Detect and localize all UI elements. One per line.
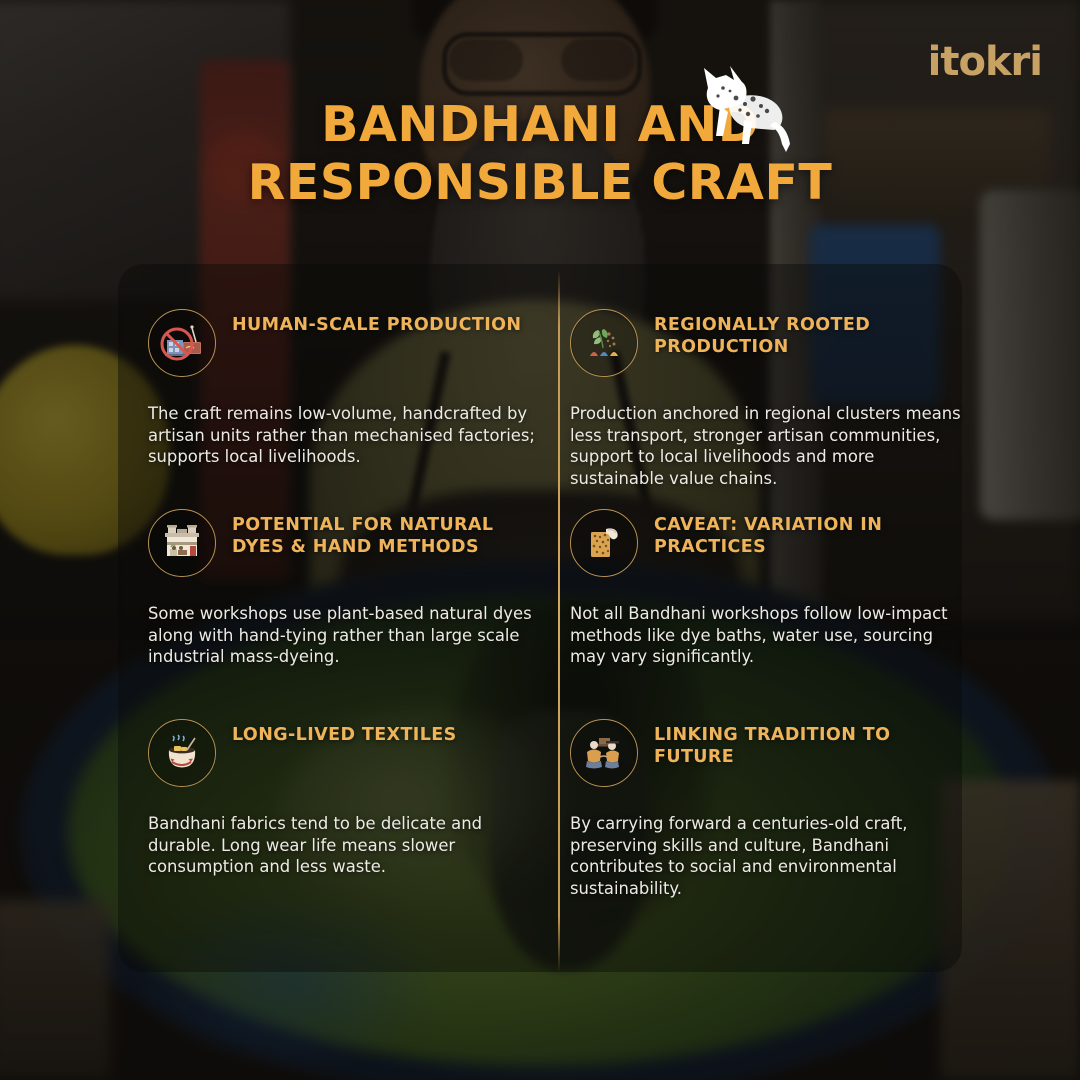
icon-ring <box>570 309 638 377</box>
card-heading: LONG-LIVED TEXTILES <box>232 719 457 747</box>
card-header: LONG-LIVED TEXTILES <box>148 719 543 787</box>
feature-grid: HUMAN-SCALE PRODUCTION The craft remains… <box>118 264 962 972</box>
icon-ring <box>570 719 638 787</box>
card-body: The craft remains low-volume, handcrafte… <box>148 403 543 468</box>
icon-ring <box>570 509 638 577</box>
card-heading: POTENTIAL FOR NATURAL DYES & HAND METHOD… <box>232 509 543 559</box>
card-body: Production anchored in regional clusters… <box>570 403 965 490</box>
feature-card-regionally-rooted-production[interactable]: REGIONALLY ROOTED PRODUCTION Production … <box>570 309 965 490</box>
no-factory-icon <box>159 320 205 366</box>
brand-logo-text: itokri <box>928 39 1042 85</box>
feature-card-caveat-variation-practices[interactable]: CAVEAT: VARIATION IN PRACTICES Not all B… <box>570 509 965 668</box>
icon-ring <box>148 309 216 377</box>
page-title-line-1: BANDHANI AND <box>0 96 1080 154</box>
icon-ring <box>148 719 216 787</box>
workshop-building-icon <box>159 520 205 566</box>
sprout-and-pigments-icon <box>581 320 627 366</box>
icon-ring <box>148 509 216 577</box>
card-body: By carrying forward a centuries-old craf… <box>570 813 965 900</box>
feature-card-linking-tradition-to-future[interactable]: LINKING TRADITION TO FUTURE By carrying … <box>570 719 965 900</box>
card-body: Not all Bandhani workshops follow low-im… <box>570 603 965 668</box>
card-body: Bandhani fabrics tend to be delicate and… <box>148 813 543 878</box>
card-header: POTENTIAL FOR NATURAL DYES & HAND METHOD… <box>148 509 543 577</box>
hand-holding-fabric-icon <box>581 520 627 566</box>
card-header: CAVEAT: VARIATION IN PRACTICES <box>570 509 965 577</box>
card-heading: LINKING TRADITION TO FUTURE <box>654 719 965 769</box>
two-artisans-icon <box>581 730 627 776</box>
card-header: LINKING TRADITION TO FUTURE <box>570 719 965 787</box>
card-header: HUMAN-SCALE PRODUCTION <box>148 309 543 377</box>
card-heading: CAVEAT: VARIATION IN PRACTICES <box>654 509 965 559</box>
page-title: BANDHANI AND RESPONSIBLE CRAFT <box>0 96 1080 212</box>
card-heading: REGIONALLY ROOTED PRODUCTION <box>654 309 965 359</box>
feature-card-human-scale-production[interactable]: HUMAN-SCALE PRODUCTION The craft remains… <box>148 309 543 468</box>
infographic-poster: itokri BANDHANI AND RESPONSIBLE CRAFT <box>0 0 1080 1080</box>
feature-card-natural-dyes-hand-methods[interactable]: POTENTIAL FOR NATURAL DYES & HAND METHOD… <box>148 509 543 668</box>
cat-illustration-icon <box>690 58 798 158</box>
card-heading: HUMAN-SCALE PRODUCTION <box>232 309 521 337</box>
steaming-dye-pot-icon <box>159 730 205 776</box>
card-body: Some workshops use plant-based natural d… <box>148 603 543 668</box>
brand-logo[interactable]: itokri <box>928 42 1042 82</box>
card-header: REGIONALLY ROOTED PRODUCTION <box>570 309 965 377</box>
page-title-line-2: RESPONSIBLE CRAFT <box>0 154 1080 212</box>
feature-card-long-lived-textiles[interactable]: LONG-LIVED TEXTILES Bandhani fabrics ten… <box>148 719 543 878</box>
